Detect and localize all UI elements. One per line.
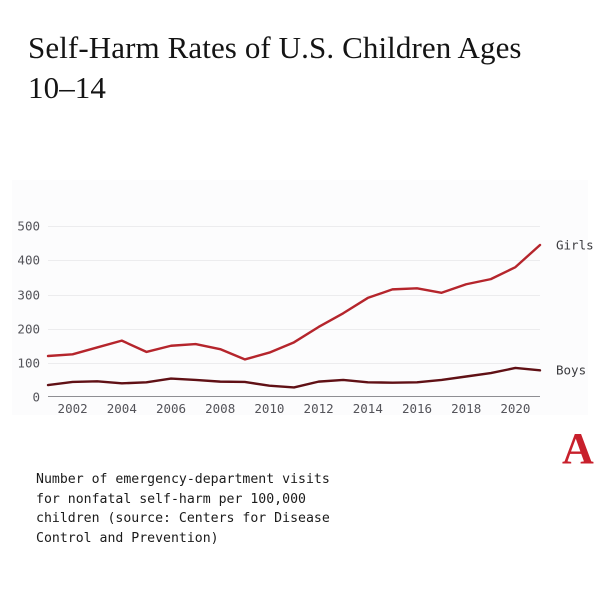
y-axis-tick-label: 100: [17, 355, 40, 370]
y-axis-tick-label: 400: [17, 253, 40, 268]
x-axis-tick-label: 2020: [500, 401, 530, 416]
x-axis-tick-label: 2006: [156, 401, 186, 416]
line-series-girls: [48, 245, 540, 359]
series-lines-group: [48, 192, 540, 397]
series-label-girls: Girls: [556, 237, 594, 252]
y-axis-tick-label: 0: [32, 390, 40, 405]
x-axis-tick-label: 2018: [451, 401, 481, 416]
page-title: Self-Harm Rates of U.S. Children Ages 10…: [28, 28, 573, 108]
chart-panel: 0100200300400500 20022004200620082010201…: [12, 180, 588, 415]
x-axis-tick-label: 2010: [254, 401, 284, 416]
gridline-y-0: [48, 397, 540, 398]
y-axis-tick-label: 500: [17, 219, 40, 234]
line-series-boys: [48, 368, 540, 387]
x-axis-tick-label: 2002: [58, 401, 88, 416]
y-axis-tick-label: 300: [17, 287, 40, 302]
y-axis-tick-label: 200: [17, 321, 40, 336]
series-label-boys: Boys: [556, 363, 586, 378]
atlantic-logo-icon: A: [562, 427, 594, 471]
x-axis-tick-label: 2008: [205, 401, 235, 416]
x-axis-tick-label: 2016: [402, 401, 432, 416]
infographic-root: Self-Harm Rates of U.S. Children Ages 10…: [0, 0, 600, 600]
plot-area: 0100200300400500 20022004200620082010201…: [48, 192, 540, 397]
x-axis-tick-label: 2014: [353, 401, 383, 416]
x-axis-tick-label: 2012: [304, 401, 334, 416]
x-axis-tick-label: 2004: [107, 401, 137, 416]
chart-caption: Number of emergency-department visits fo…: [36, 470, 476, 548]
